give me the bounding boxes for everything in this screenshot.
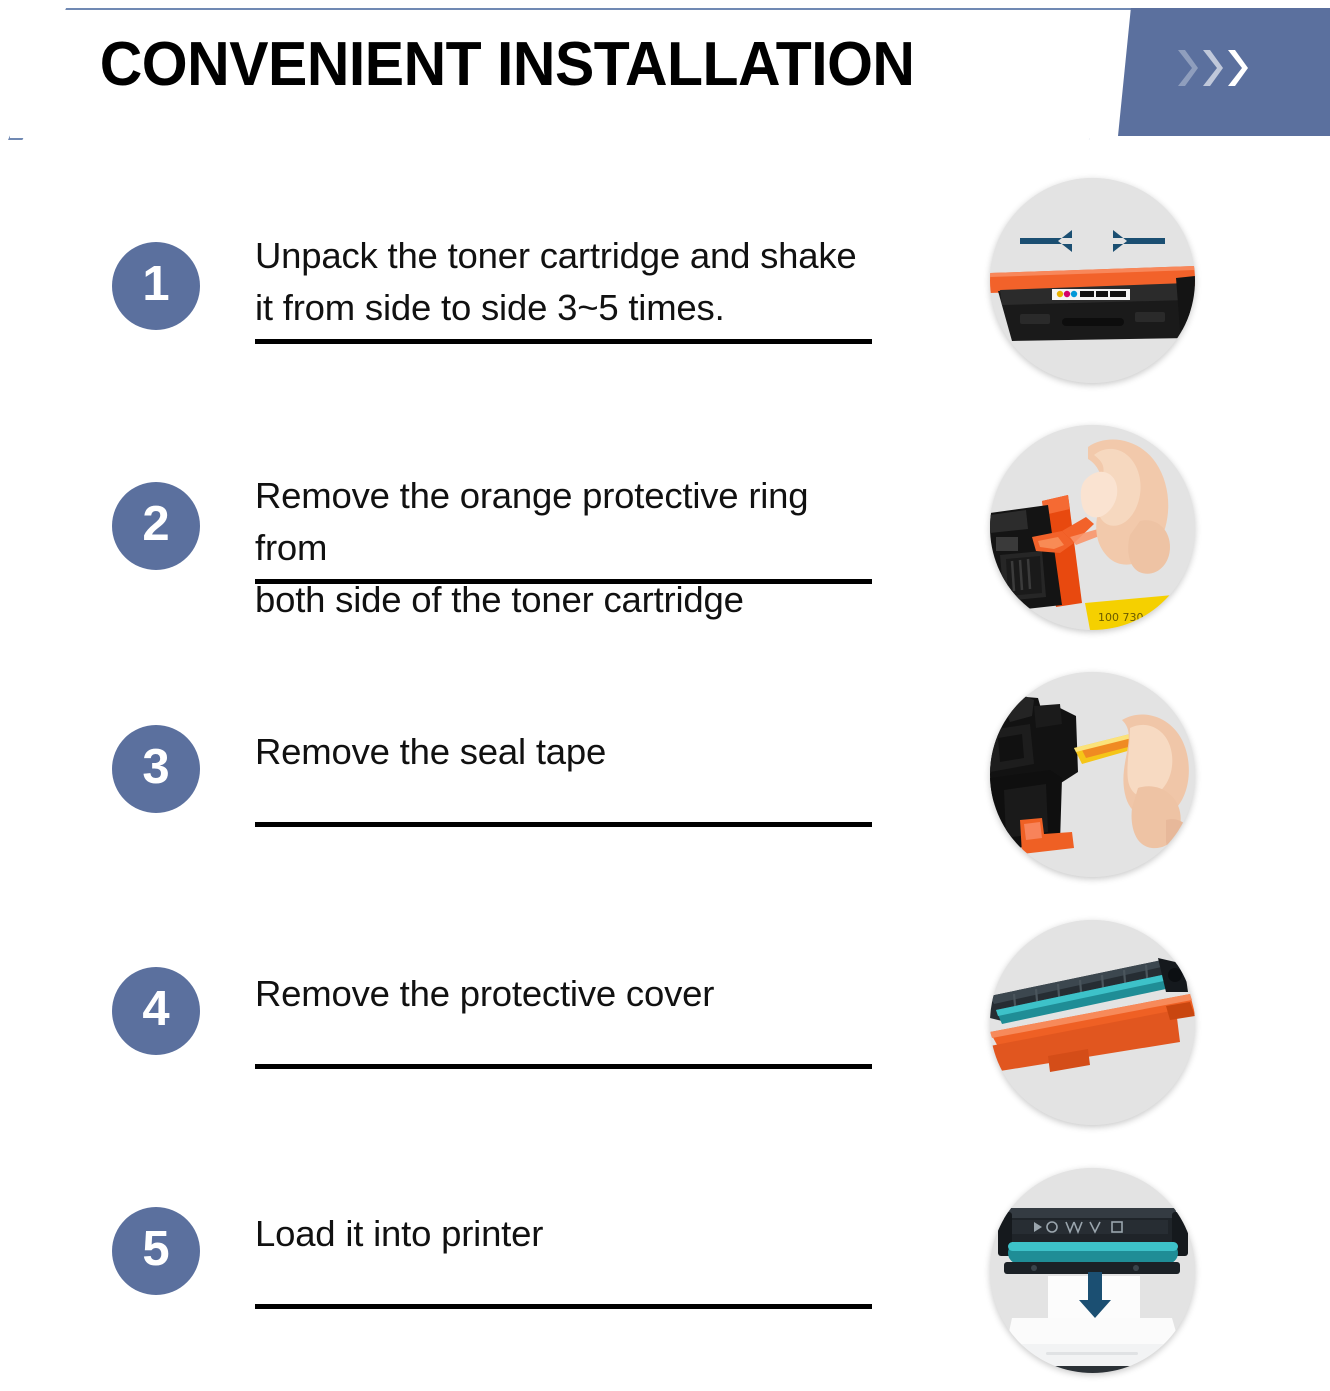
step-text-line-1a: Unpack the toner cartridge and shake xyxy=(255,230,875,282)
step-text-block-3: Remove the seal tape xyxy=(255,726,875,778)
page-title: CONVENIENT INSTALLATION xyxy=(0,0,1078,128)
step-text-line-5a: Load it into printer xyxy=(255,1208,875,1260)
chevron-3-icon xyxy=(1226,48,1248,88)
installation-steps-list: 1 Unpack the toner cartridge and shake i… xyxy=(0,150,930,1391)
double-chevron-right-icon xyxy=(1176,48,1248,88)
toner-shake-photo xyxy=(990,178,1195,383)
chevron-2-icon xyxy=(1201,48,1223,88)
header-banner: CONVENIENT INSTALLATION xyxy=(0,0,1330,150)
step-text-block-5: Load it into printer xyxy=(255,1208,875,1260)
remove-orange-ring-photo: 100 730 xyxy=(990,425,1195,630)
remove-protective-cover-photo xyxy=(990,920,1195,1125)
step-number-badge-4: 4 xyxy=(112,967,200,1055)
step-text-line-2a: Remove the orange protective ring from xyxy=(255,470,875,574)
step-text-line-4a: Remove the protective cover xyxy=(255,968,875,1020)
step-divider-4 xyxy=(255,1064,872,1069)
remove-seal-tape-photo xyxy=(990,672,1195,877)
chevron-1-icon xyxy=(1176,48,1198,88)
step-text-block-2: Remove the orange protective ring from b… xyxy=(255,470,875,626)
step-divider-5 xyxy=(255,1304,872,1309)
load-into-printer-photo xyxy=(990,1168,1195,1373)
step-divider-2 xyxy=(255,579,872,584)
step-number-badge-1: 1 xyxy=(112,242,200,330)
step-text-line-1b: it from side to side 3~5 times. xyxy=(255,282,875,334)
step-number-badge-3: 3 xyxy=(112,725,200,813)
step-divider-3 xyxy=(255,822,872,827)
step-text-block-4: Remove the protective cover xyxy=(255,968,875,1020)
step-number-badge-2: 2 xyxy=(112,482,200,570)
step-divider-1 xyxy=(255,339,872,344)
svg-text:100 730: 100 730 xyxy=(1098,611,1144,624)
step-text-block-1: Unpack the toner cartridge and shake it … xyxy=(255,230,875,334)
step-text-line-3a: Remove the seal tape xyxy=(255,726,875,778)
step-number-badge-5: 5 xyxy=(112,1207,200,1295)
